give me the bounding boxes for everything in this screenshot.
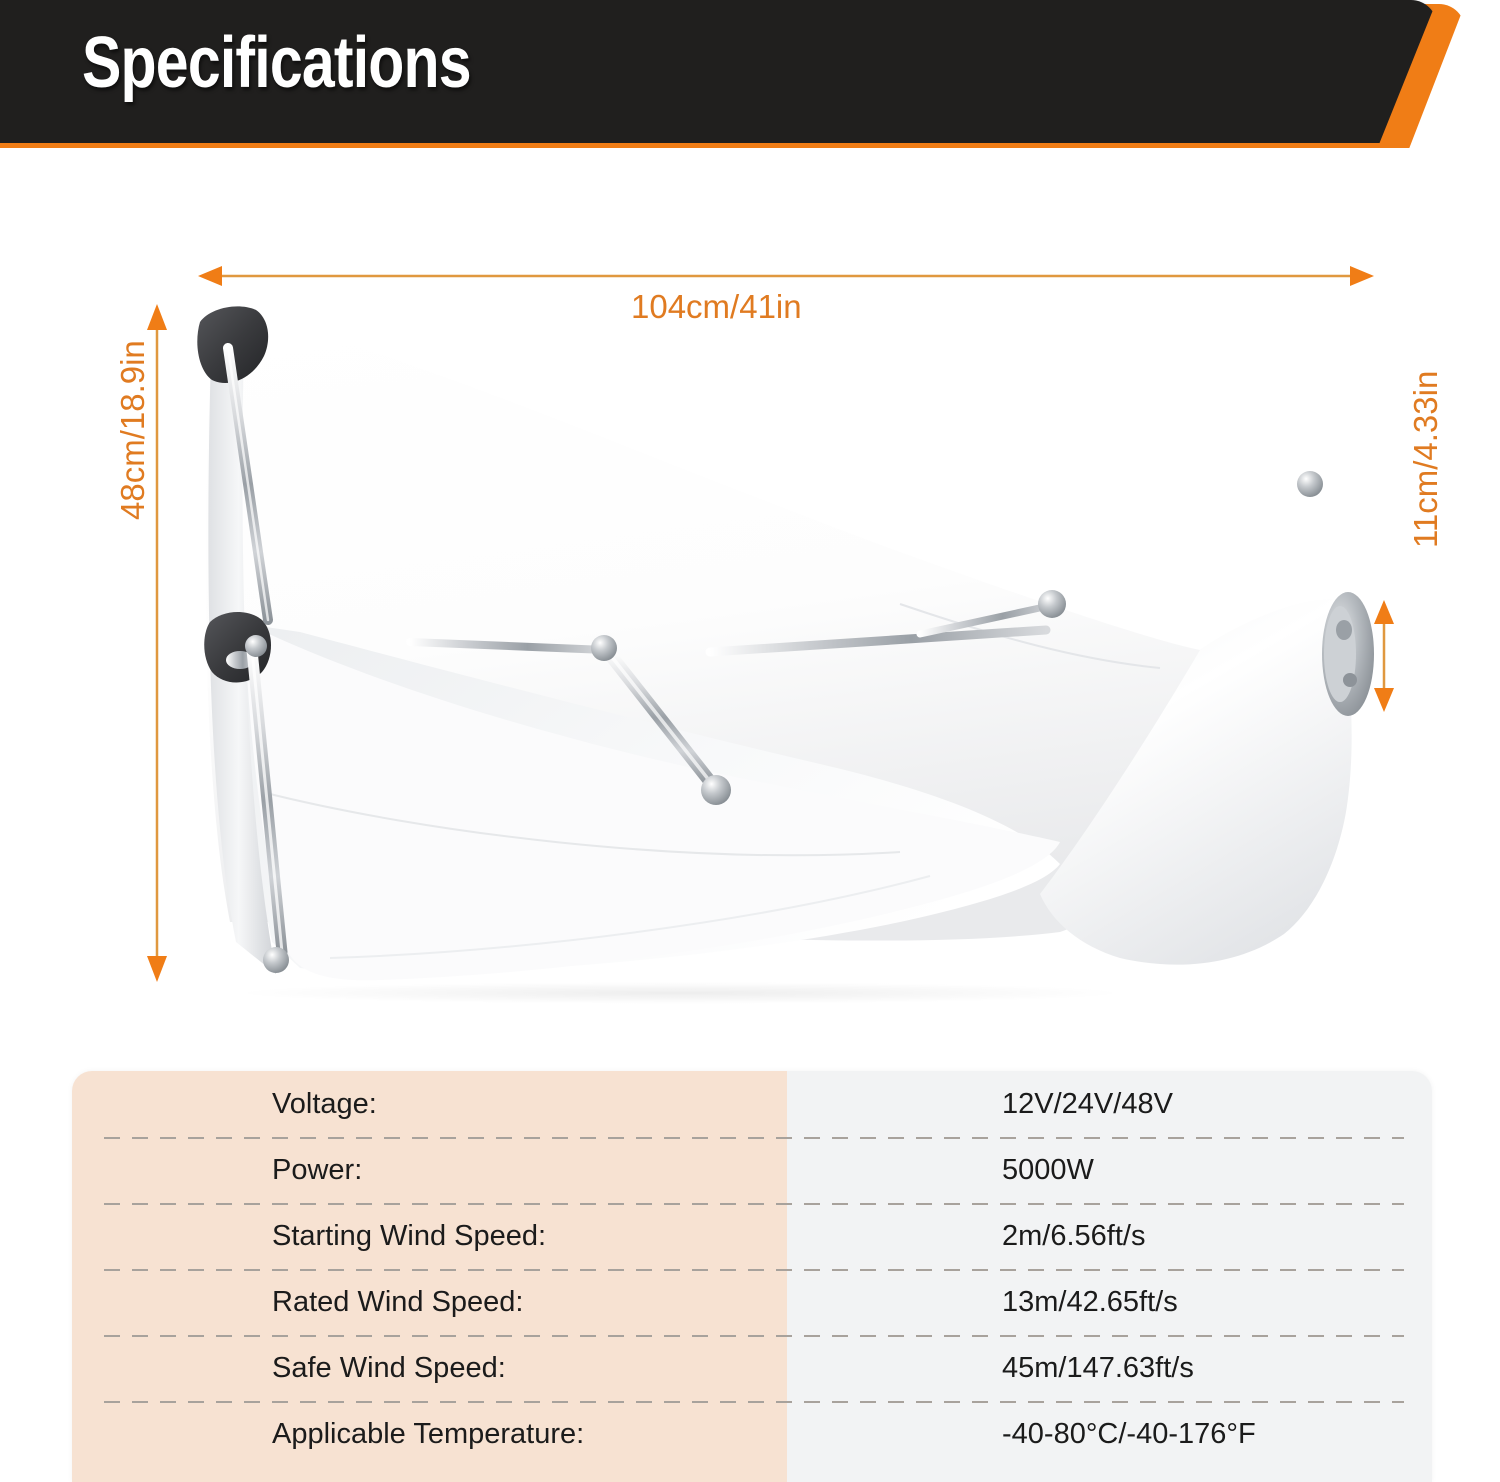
dimension-label-height: 48cm/18.9in [114,270,152,520]
spec-rows-container: Voltage:12V/24V/48VPower:5000WStarting W… [72,1071,1432,1482]
spec-value: 12V/24V/48V [787,1088,1432,1121]
table-row: Applicable Temperature:-40-80°C/-40-176°… [72,1401,1432,1467]
specifications-table: Voltage:12V/24V/48VPower:5000WStarting W… [72,1071,1432,1482]
table-row: Voltage:12V/24V/48V [72,1071,1432,1137]
spec-label: Safe Wind Speed: [72,1352,787,1385]
table-row: Starting Wind Speed:2m/6.56ft/s [72,1203,1432,1269]
mounting-hub [1322,592,1374,716]
spec-value: 13m/42.65ft/s [787,1286,1432,1319]
spec-label: Voltage: [72,1088,787,1121]
spec-value: 45m/147.63ft/s [787,1352,1432,1385]
dimension-label-length: 104cm/41in [631,288,802,326]
table-row: Power:5000W [72,1137,1432,1203]
product-shadow [230,982,1130,1004]
page-header: Specifications [0,0,1500,152]
spec-value: -40-80°C/-40-176°F [787,1418,1432,1451]
table-row: Rated Wind Speed:13m/42.65ft/s [72,1269,1432,1335]
spec-label: Rated Wind Speed: [72,1286,787,1319]
dimension-label-depth: 11cm/4.33in [1407,318,1445,548]
spec-label: Starting Wind Speed: [72,1220,787,1253]
spec-value: 5000W [787,1154,1432,1187]
dimension-arrow-depth [1374,600,1394,712]
specifications-page: Specifications [0,0,1500,1482]
page-title: Specifications [82,22,471,104]
spec-label: Power: [72,1154,787,1187]
dimension-arrow-length [198,266,1374,286]
table-row: Safe Wind Speed:45m/147.63ft/s [72,1335,1432,1401]
spec-label: Applicable Temperature: [72,1418,787,1451]
spec-value: 2m/6.56ft/s [787,1220,1432,1253]
